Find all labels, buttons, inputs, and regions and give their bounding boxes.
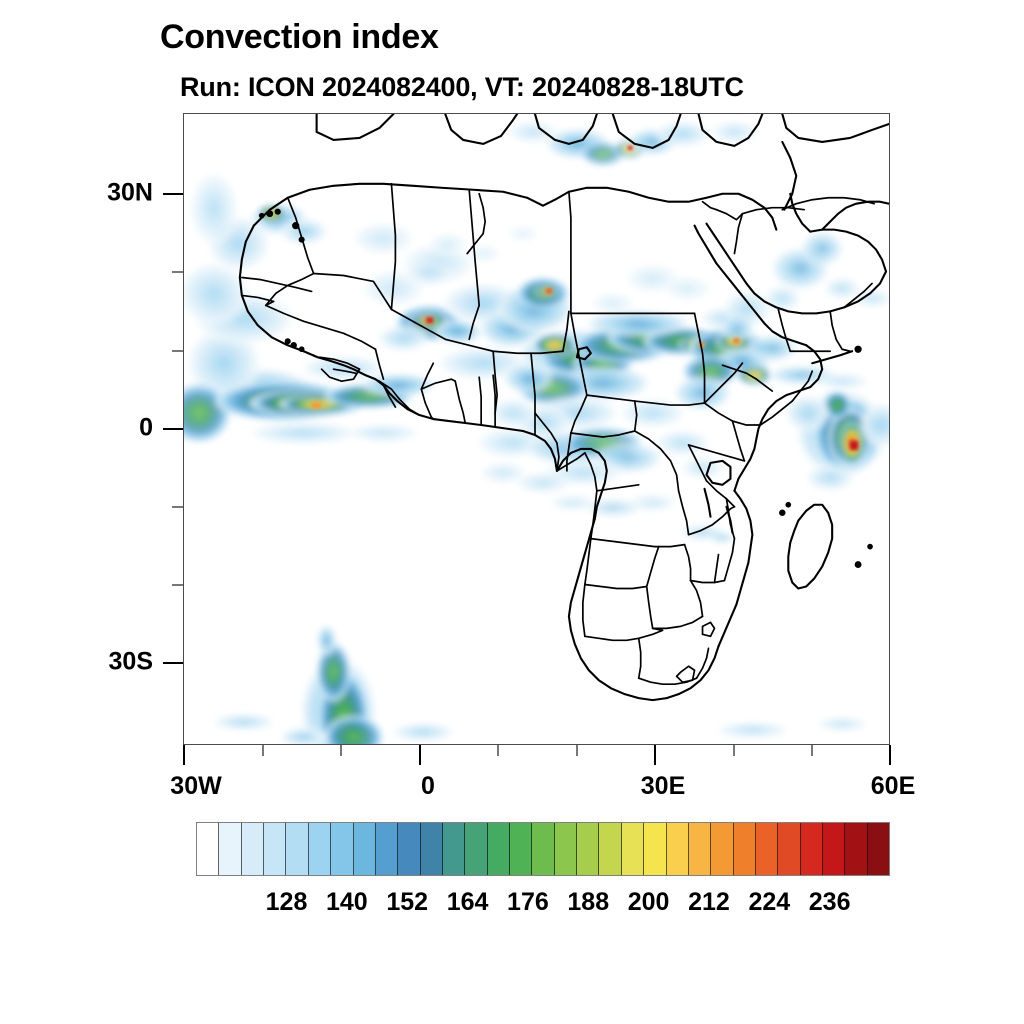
- colorbar[interactable]: 128140152164176188200212224236: [196, 822, 890, 876]
- x-tick-minor-10E: [497, 745, 499, 756]
- colorbar-cell: [801, 823, 823, 875]
- x-tick-minor-20E: [576, 745, 578, 756]
- y-axis-label-0: 0: [98, 414, 153, 443]
- colorbar-cell: [443, 823, 465, 875]
- x-tick-minor-20W: [262, 745, 264, 756]
- colorbar-cell: [264, 823, 286, 875]
- colorbar-cell: [354, 823, 376, 875]
- colorbar-cell: [868, 823, 889, 875]
- x-tick-30W: [183, 745, 185, 765]
- x-tick-0: [419, 745, 421, 765]
- colorbar-cell: [197, 823, 219, 875]
- colorbar-tick-label: 152: [386, 888, 428, 917]
- y-tick-minor-10N: [172, 350, 183, 352]
- colorbar-cell: [667, 823, 689, 875]
- colorbar-tick-label: 140: [326, 888, 368, 917]
- colorbar-cell: [421, 823, 443, 875]
- colorbar-cell: [577, 823, 599, 875]
- x-tick-minor-40E: [733, 745, 735, 756]
- subtitle-run-valid-time: Run: ICON 2024082400, VT: 20240828-18UTC: [180, 72, 744, 103]
- colorbar-tick-label: 128: [266, 888, 308, 917]
- figure-canvas: Convection index Run: ICON 2024082400, V…: [0, 0, 1024, 1024]
- colorbar-cell: [510, 823, 532, 875]
- colorbar-tick-label: 188: [567, 888, 609, 917]
- colorbar-cell: [309, 823, 331, 875]
- map-canvas: [184, 114, 889, 744]
- colorbar-cell: [756, 823, 778, 875]
- colorbar-cell: [599, 823, 621, 875]
- x-axis-label-30W: 30W: [170, 772, 221, 801]
- colorbar-cell: [644, 823, 666, 875]
- y-axis-label-30S: 30S: [98, 648, 153, 677]
- colorbar-cell: [555, 823, 577, 875]
- x-tick-60E: [889, 745, 891, 765]
- colorbar-cell: [398, 823, 420, 875]
- colorbar-cell: [845, 823, 867, 875]
- colorbar-cell: [532, 823, 554, 875]
- colorbar-cell: [376, 823, 398, 875]
- colorbar-tick-label: 224: [748, 888, 790, 917]
- y-tick-0: [163, 428, 183, 430]
- colorbar-cell: [689, 823, 711, 875]
- x-axis-label-60E: 60E: [871, 772, 915, 801]
- colorbar-cell: [622, 823, 644, 875]
- y-tick-minor-20S: [172, 584, 183, 586]
- colorbar-cell: [711, 823, 733, 875]
- x-axis-label-30E: 30E: [641, 772, 685, 801]
- colorbar-cell: [331, 823, 353, 875]
- colorbar-cells[interactable]: [196, 822, 890, 876]
- x-tick-minor-50E: [811, 745, 813, 756]
- y-tick-30N: [163, 193, 183, 195]
- y-tick-30S: [163, 662, 183, 664]
- colorbar-cell: [465, 823, 487, 875]
- colorbar-cell: [734, 823, 756, 875]
- colorbar-tick-label: 236: [809, 888, 851, 917]
- page-title: Convection index: [160, 18, 439, 57]
- y-tick-minor-10S: [172, 506, 183, 508]
- colorbar-cell: [823, 823, 845, 875]
- colorbar-cell: [488, 823, 510, 875]
- y-axis-label-30N: 30N: [98, 179, 153, 208]
- colorbar-cell: [242, 823, 264, 875]
- colorbar-cell: [286, 823, 308, 875]
- x-tick-minor-10W: [340, 745, 342, 756]
- colorbar-tick-label: 212: [688, 888, 730, 917]
- map-plot-area[interactable]: [183, 113, 890, 745]
- x-axis-label-0: 0: [421, 772, 435, 801]
- colorbar-tick-label: 164: [447, 888, 489, 917]
- colorbar-cell: [778, 823, 800, 875]
- colorbar-tick-label: 176: [507, 888, 549, 917]
- colorbar-tick-label: 200: [628, 888, 670, 917]
- colorbar-cell: [219, 823, 241, 875]
- y-tick-minor-20N: [172, 271, 183, 273]
- x-tick-30E: [654, 745, 656, 765]
